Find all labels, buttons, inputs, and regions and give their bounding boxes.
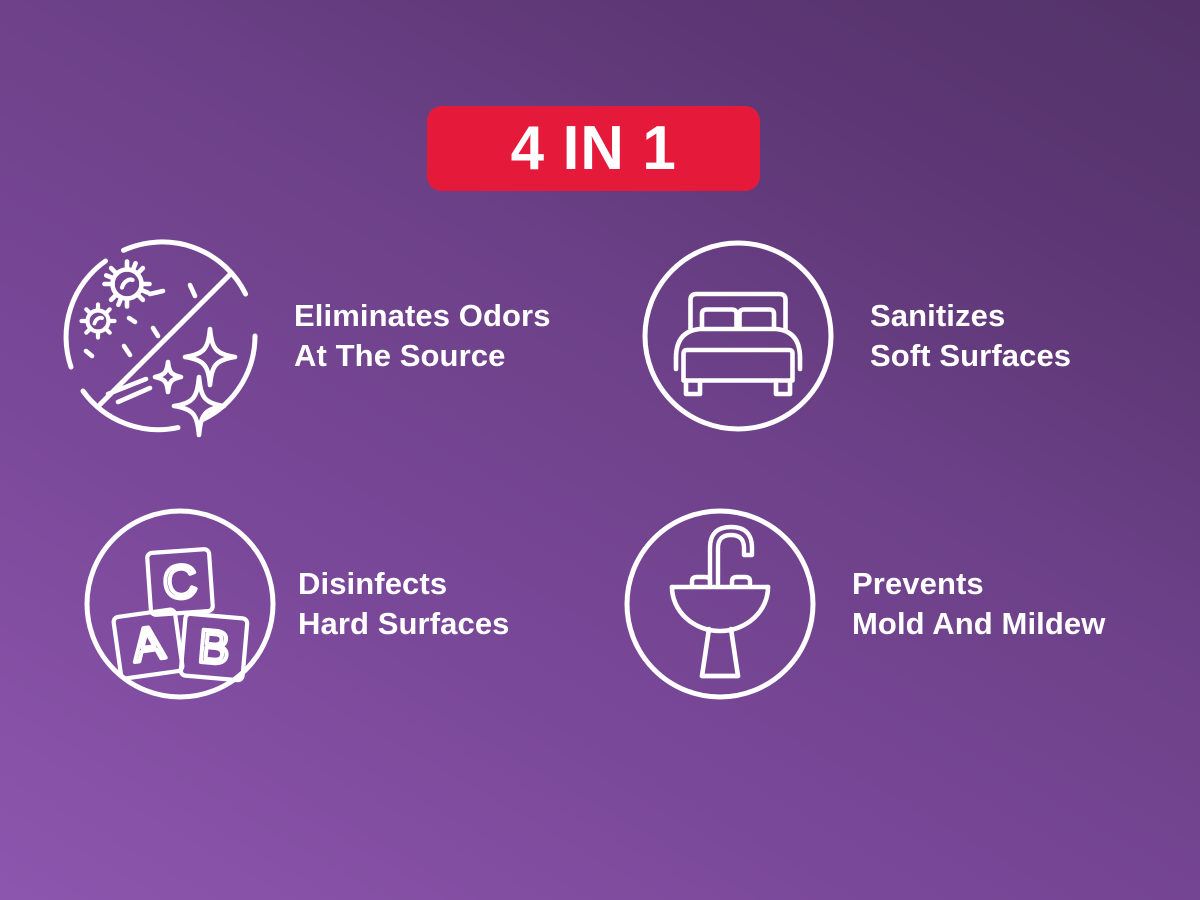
- poster-canvas: 4 IN 1: [0, 0, 1200, 900]
- block-letter-b: B: [196, 619, 232, 675]
- feature-item-prevents-mold-and-mildew: Prevents Mold And Mildew: [620, 504, 1105, 704]
- pedestal-sink-icon: [620, 504, 820, 704]
- badge-label: 4 IN 1: [510, 118, 676, 180]
- block-letter-c: C: [161, 554, 199, 609]
- feature-label: Disinfects Hard Surfaces: [298, 564, 510, 645]
- feature-item-eliminates-odors: Eliminates Odors At The Source: [62, 236, 551, 436]
- four-in-one-badge: 4 IN 1: [427, 106, 760, 191]
- germs-to-sparkles-icon: [62, 236, 262, 436]
- feature-item-disinfects-hard-surfaces: C A B Disinfects Hard Surfaces: [80, 504, 510, 704]
- bed-icon: [638, 236, 838, 436]
- feature-item-sanitizes-soft-surfaces: Sanitizes Soft Surfaces: [638, 236, 1071, 436]
- feature-label: Prevents Mold And Mildew: [852, 564, 1105, 645]
- feature-label: Eliminates Odors At The Source: [294, 296, 551, 377]
- alphabet-blocks-icon: C A B: [80, 504, 280, 704]
- feature-grid: Eliminates Odors At The Source: [0, 236, 1200, 756]
- feature-label: Sanitizes Soft Surfaces: [870, 296, 1071, 377]
- block-letter-a: A: [129, 615, 168, 672]
